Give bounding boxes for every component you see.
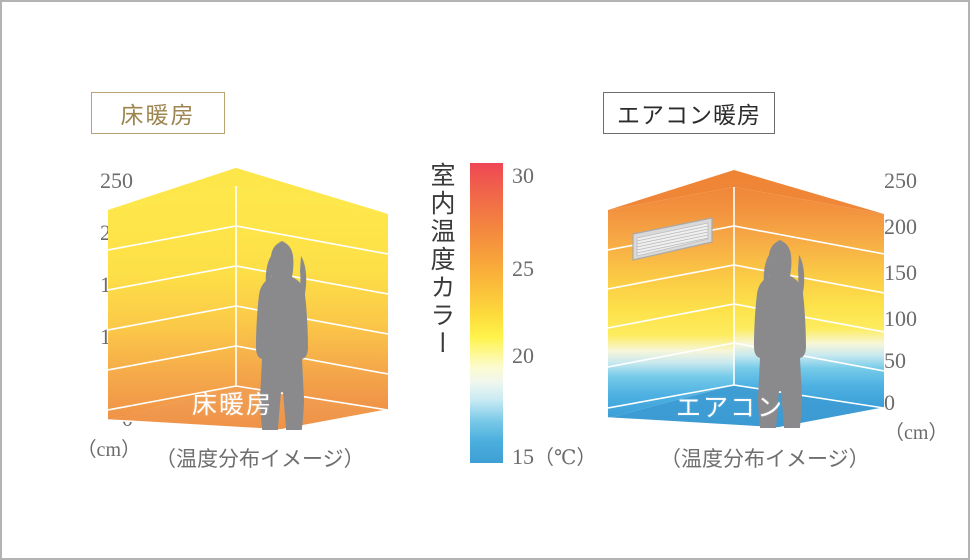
caption-right: （温度分布イメージ） (660, 443, 870, 473)
axis-right-tick-200: 200 (884, 216, 917, 238)
colorbar-title: 室内温度カラー (426, 162, 456, 402)
axis-right-unit: （cm） (884, 423, 948, 443)
wall-right-side (608, 187, 734, 418)
colorbar-tick-30: 30 (512, 163, 534, 189)
colorbar-tick-15-value: 15 (512, 444, 534, 469)
axis-left-unit: （cm） (77, 440, 141, 460)
axis-right-tick-100: 100 (884, 308, 917, 330)
floor-label-right: エアコン (676, 388, 784, 424)
colorbar-tick-20: 20 (512, 343, 534, 369)
axis-right-tick-250: 250 (884, 170, 917, 192)
panel-title-floor-heating: 床暖房 (91, 92, 225, 134)
colorbar: 室内温度カラー 30 25 20 15（℃） (420, 158, 590, 470)
axis-right: 250 200 150 100 50 0 （cm） (884, 160, 970, 460)
axis-right-tick-50: 50 (884, 350, 906, 372)
caption-left: （温度分布イメージ） (155, 443, 365, 473)
colorbar-gradient (470, 163, 503, 463)
panel-title-air-conditioner: エアコン暖房 (603, 92, 775, 134)
floor-label-left: 床暖房 (192, 385, 273, 421)
axis-right-tick-0: 0 (884, 392, 895, 414)
colorbar-unit: （℃） (534, 447, 596, 469)
colorbar-tick-15: 15（℃） (512, 441, 596, 470)
diagram-stage: 床暖房 250 200 150 100 50 0 （cm） (0, 0, 970, 560)
axis-right-tick-150: 150 (884, 262, 917, 284)
colorbar-tick-25: 25 (512, 256, 534, 282)
wall-right-back (734, 187, 884, 408)
